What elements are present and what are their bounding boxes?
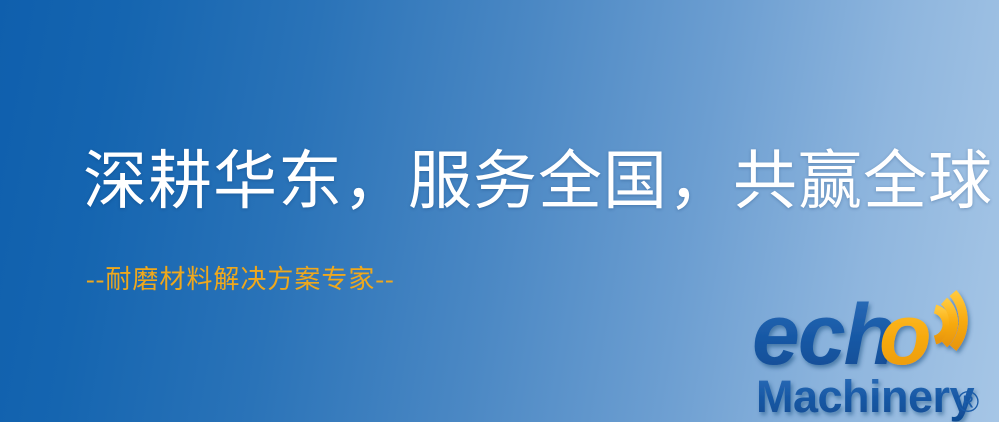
registered-trademark-icon: ®: [957, 386, 979, 419]
echo-wave-arcs-icon: [935, 293, 963, 348]
logo-text-o: o: [879, 287, 932, 383]
banner-subtitle: --耐磨材料解决方案专家--: [86, 266, 395, 295]
logo-machinery-glyphs: Machinery: [756, 371, 975, 422]
logo-o-glyph: o: [879, 287, 932, 383]
logo-ech-glyphs: ech: [752, 287, 894, 383]
logo-text-machinery: Machinery: [756, 371, 975, 422]
banner-headline: 深耕华东，服务全国，共赢全球: [83, 148, 993, 216]
promo-banner: 深耕华东，服务全国，共赢全球 --耐磨材料解决方案专家--: [0, 0, 999, 422]
logo-text-ech: ech: [752, 287, 894, 383]
echo-machinery-logo: ech o Machinery ®: [752, 292, 999, 422]
